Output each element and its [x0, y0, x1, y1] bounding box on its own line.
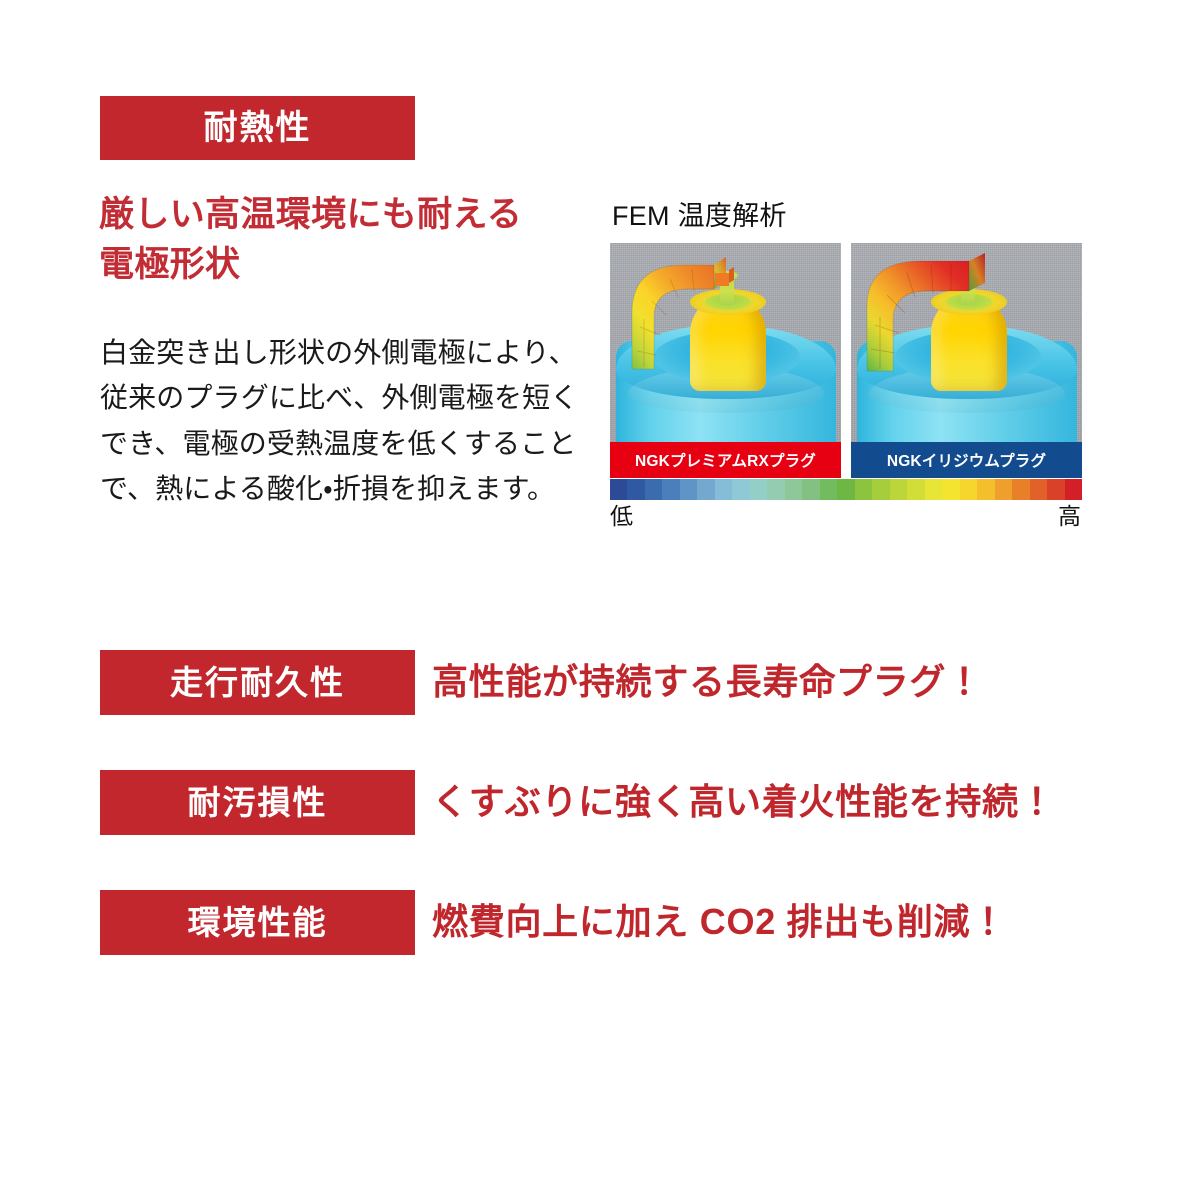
fem-panel-premium-rx: NGKプレミアムRXプラグ [610, 243, 841, 478]
colorbar-band-25 [1047, 479, 1064, 500]
feature-text-driving-durability: 高性能が持続する長寿命プラグ！ [432, 664, 983, 700]
colorbar-band-14 [855, 479, 872, 500]
colorbar-band-8 [750, 479, 767, 500]
colorbar-low-label: 低 [610, 505, 633, 528]
ground-electrode-arm-iridium [851, 243, 1082, 443]
colorbar-band-20 [960, 479, 977, 500]
colorbar-band-3 [662, 479, 679, 500]
colorbar-high-label: 高 [1058, 505, 1081, 528]
feature-text-environmental-performance: 燃費向上に加え CO2 排出も削減！ [432, 904, 1007, 940]
colorbar-band-12 [820, 479, 837, 500]
fem-panel-iridium: NGKイリジウムプラグ [851, 243, 1082, 478]
section-tag-heat-resistance: 耐熱性 [100, 96, 415, 160]
temperature-colorbar [610, 479, 1082, 500]
heat-body-copy: 白金突き出し形状の外側電極により、 従来のプラグに比べ、外側電極を短く でき、電… [100, 330, 590, 511]
fem-figure: NGKプレミアムRXプラグ [610, 243, 1082, 478]
colorbar-band-26 [1065, 479, 1082, 500]
colorbar-band-15 [872, 479, 889, 500]
colorbar-band-24 [1030, 479, 1047, 500]
colorbar-band-9 [767, 479, 784, 500]
feature-tag-driving-durability: 走行耐久性 [100, 650, 415, 715]
colorbar-band-4 [680, 479, 697, 500]
fem-scene-premium-rx [610, 243, 841, 443]
heat-body-line-4: で、熱による酸化・折損を抑えます。 [100, 466, 590, 511]
feature-tag-fouling-resistance: 耐汚損性 [100, 770, 415, 835]
colorbar-band-21 [977, 479, 994, 500]
colorbar-band-6 [715, 479, 732, 500]
colorbar-band-5 [697, 479, 714, 500]
heat-headline: 厳しい高温環境にも耐える 電極形状 [99, 190, 599, 289]
colorbar-band-11 [802, 479, 819, 500]
colorbar-band-1 [627, 479, 644, 500]
colorbar-band-16 [890, 479, 907, 500]
fem-figure-title: FEM 温度解析 [612, 203, 787, 230]
colorbar-band-19 [942, 479, 959, 500]
colorbar-band-0 [610, 479, 627, 500]
feature-text-fouling-resistance: くすぶりに強く高い着火性能を持続！ [432, 784, 1056, 820]
heat-body-line-1: 白金突き出し形状の外側電極により、 [100, 330, 590, 375]
fem-scene-iridium [851, 243, 1082, 443]
colorbar-band-7 [732, 479, 749, 500]
colorbar-band-17 [907, 479, 924, 500]
heat-headline-line-1: 厳しい高温環境にも耐える [99, 190, 599, 240]
colorbar-band-22 [995, 479, 1012, 500]
feature-sheet-page: 耐熱性 厳しい高温環境にも耐える 電極形状 白金突き出し形状の外側電極により、 … [0, 0, 1200, 1200]
fem-caption-premium-rx: NGKプレミアムRXプラグ [610, 442, 841, 478]
ground-electrode-arm-rx [610, 243, 841, 443]
feature-tag-environmental-performance: 環境性能 [100, 890, 415, 955]
heat-body-line-3: でき、電極の受熱温度を低くすること [100, 421, 590, 466]
colorbar-band-18 [925, 479, 942, 500]
heat-body-line-2: 従来のプラグに比べ、外側電極を短く [100, 375, 590, 420]
colorbar-band-10 [785, 479, 802, 500]
colorbar-band-2 [645, 479, 662, 500]
fem-caption-iridium: NGKイリジウムプラグ [851, 442, 1082, 478]
colorbar-band-23 [1012, 479, 1029, 500]
colorbar-band-13 [837, 479, 854, 500]
heat-headline-line-2: 電極形状 [99, 240, 599, 290]
